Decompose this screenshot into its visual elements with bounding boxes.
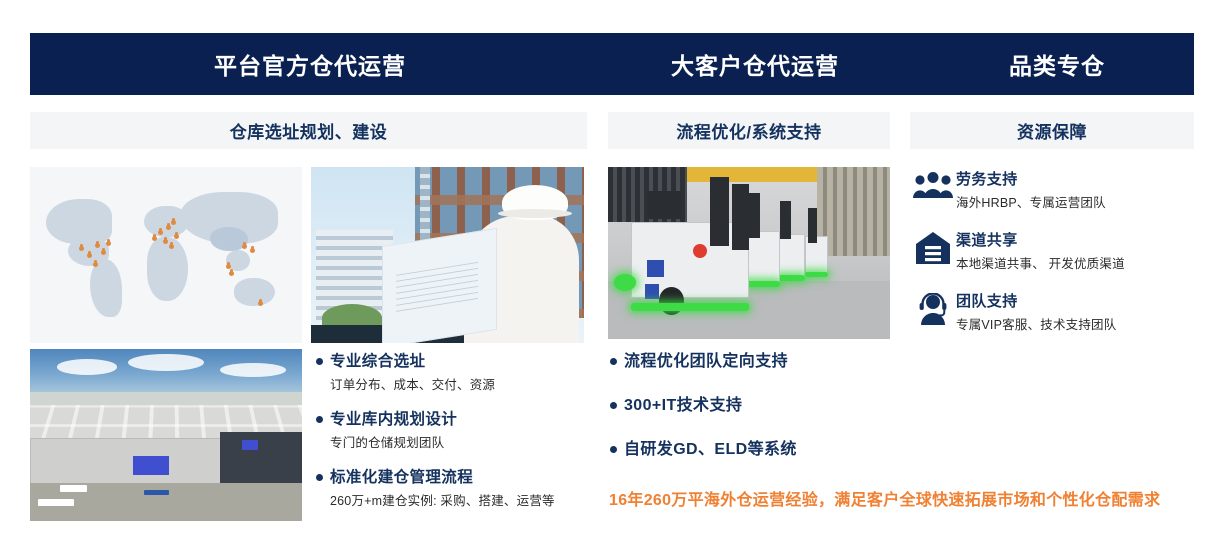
resource-subtitle: 本地渠道共事、 开发优质渠道: [956, 253, 1125, 272]
map-pin: [258, 301, 263, 306]
list-item: 标准化建仓管理流程 260万+m建仓实例: 采购、搭建、运营等: [316, 465, 584, 509]
list-item: 流程优化团队定向支持: [610, 347, 895, 371]
bullet-dot-icon: [316, 474, 323, 481]
list-item: 专业综合选址 订单分布、成本、交付、资源: [316, 349, 584, 393]
section-band-label: 资源保障: [1017, 118, 1087, 143]
map-pin: [229, 271, 234, 276]
header-title-key-account: 大客户仓代运营: [590, 47, 920, 81]
resource-subtitle: 专属VIP客服、技术支持团队: [956, 314, 1116, 333]
map-pin: [250, 248, 255, 253]
headset-support-agent-icon: [910, 289, 956, 325]
resource-title: 渠道共享: [956, 229, 1125, 250]
warehouse-logo-sign-small: [242, 440, 258, 450]
header-title-category-warehouse: 品类专仓: [920, 47, 1194, 81]
resource-subtitle: 海外HRBP、专属运营团队: [956, 192, 1106, 211]
map-pin: [93, 262, 98, 267]
people-group-icon: [910, 167, 956, 199]
list-item: 专业库内规划设计 专门的仓储规划团队: [316, 407, 584, 451]
list-item: 300+IT技术支持: [610, 391, 895, 415]
bullet-title: 300+IT技术支持: [610, 391, 895, 415]
resource-title: 团队支持: [956, 290, 1116, 311]
section-band-label: 仓库选址规划、建设: [230, 118, 388, 143]
list-item: 团队支持 专属VIP客服、技术支持团队: [910, 289, 1194, 333]
map-pin: [226, 264, 231, 269]
map-pin: [95, 243, 100, 248]
map-pin: [242, 244, 247, 249]
warehouse-robots-image: [608, 167, 890, 339]
robot-brand-badge: [645, 284, 659, 299]
bullet-subtitle: 260万+m建仓实例: 采购、搭建、运营等: [330, 490, 584, 509]
bullet-title: 标准化建仓管理流程: [316, 465, 584, 487]
bullet-dot-icon: [610, 402, 617, 409]
bullet-dot-icon: [316, 416, 323, 423]
warehouse-building-icon: [910, 228, 956, 264]
map-pin: [101, 250, 106, 255]
warehouse-logo-sign: [133, 456, 168, 475]
map-pin: [174, 234, 179, 239]
bullet-subtitle: 订单分布、成本、交付、资源: [330, 374, 584, 393]
bullet-title: 流程优化团队定向支持: [610, 347, 895, 371]
bullet-title: 专业综合选址: [316, 349, 584, 371]
list-item: 自研发GD、ELD等系统: [610, 435, 895, 459]
map-pin: [106, 241, 111, 246]
header-title-platform-official: 平台官方仓代运营: [30, 47, 590, 81]
section-band-label: 流程优化/系统支持: [676, 118, 821, 143]
bullet-title: 专业库内规划设计: [316, 407, 584, 429]
bullet-subtitle: 专门的仓储规划团队: [330, 432, 584, 451]
bullet-dot-icon: [316, 358, 323, 365]
section-band-site-planning: 仓库选址规划、建设: [30, 112, 587, 149]
robot-brand-badge: [647, 260, 664, 277]
bullet-title: 自研发GD、ELD等系统: [610, 435, 895, 459]
site-planning-bullet-list: 专业综合选址 订单分布、成本、交付、资源 专业库内规划设计 专门的仓储规划团队 …: [316, 349, 584, 523]
top-header-bar: 平台官方仓代运营 大客户仓代运营 品类专仓: [30, 33, 1194, 95]
resource-guarantee-list: 劳务支持 海外HRBP、专属运营团队 渠道共享 本地渠道共事、 开发优质渠道: [910, 167, 1194, 350]
bullet-dot-icon: [610, 446, 617, 453]
footnote-highlight: 16年260万平海外仓运营经验，满足客户全球快速拓展市场和个性化仓配需求: [609, 486, 1160, 510]
list-item: 劳务支持 海外HRBP、专属运营团队: [910, 167, 1194, 211]
list-item: 渠道共享 本地渠道共事、 开发优质渠道: [910, 228, 1194, 272]
engineer-blueprint-image: [311, 167, 584, 343]
robot-emergency-stop-button: [693, 244, 707, 258]
section-band-process-optimization: 流程优化/系统支持: [608, 112, 890, 149]
bullet-dot-icon: [610, 358, 617, 365]
section-band-resource-guarantee: 资源保障: [910, 112, 1194, 149]
world-map-canvas: [30, 167, 302, 343]
world-map-image: [30, 167, 302, 343]
process-optimization-bullet-list: 流程优化团队定向支持 300+IT技术支持 自研发GD、ELD等系统: [610, 347, 895, 479]
resource-title: 劳务支持: [956, 168, 1106, 189]
aerial-warehouse-image: [30, 349, 302, 521]
